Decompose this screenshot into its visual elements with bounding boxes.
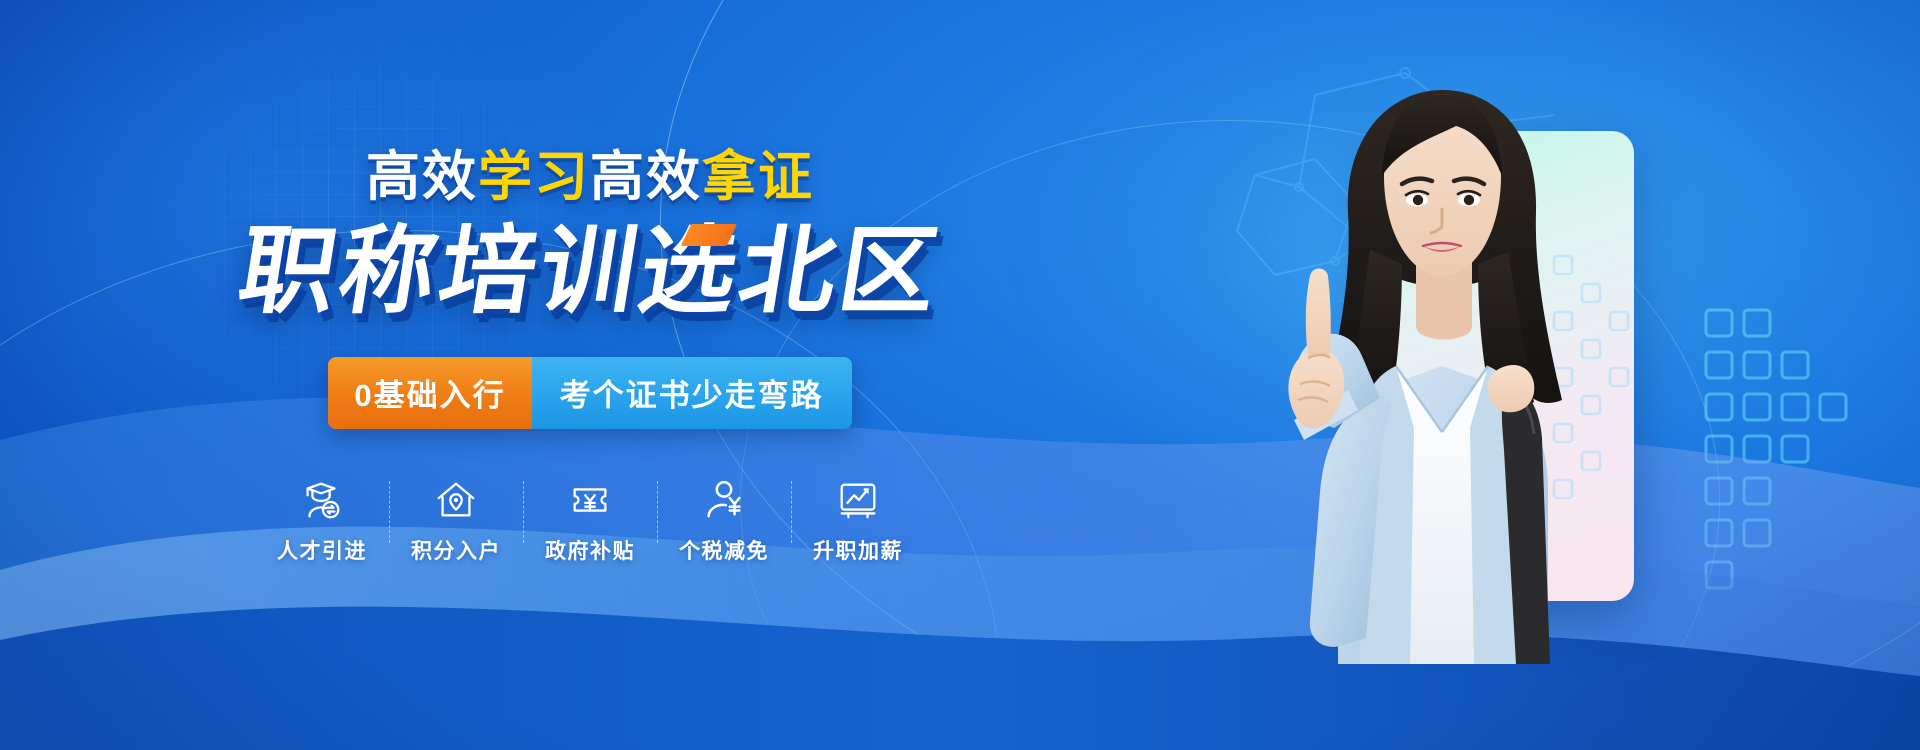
headline: 高效学习高效拿证 [366,150,814,204]
tagline-bar: 0基础入行 考个证书少走弯路 [328,357,851,429]
photo-composition [1160,0,1920,750]
headline-seg-3: 高效 [590,147,702,207]
feature-item-subsidy[interactable]: 政府补贴 [523,477,657,565]
tagline-badge: 0基础入行 [328,357,531,429]
headline-seg-1: 高效 [366,147,478,207]
headline-seg-4: 拿证 [702,147,814,207]
presenter-photo [1220,64,1660,664]
feature-label: 人才引进 [277,535,367,565]
feature-item-tax[interactable]: 个税减免 [657,477,791,565]
feature-item-residency[interactable]: 积分入户 [389,477,523,565]
feature-label: 积分入户 [411,535,501,565]
chart-board-icon [835,477,881,523]
headline-seg-2: 学习 [478,147,590,207]
feature-label: 个税减免 [679,535,769,565]
person-yuan-icon [701,477,747,523]
tagline-text: 考个证书少走弯路 [532,357,852,429]
feature-item-promotion[interactable]: 升职加薪 [791,477,925,565]
feature-item-talent[interactable]: 人才引进 [255,477,389,565]
main-title: 职称培训选北区 [232,222,948,323]
feature-label: 政府补贴 [545,535,635,565]
promo-banner: 高效学习高效拿证 职称培训选北区 0基础入行 考个证书少走弯路 人才引进 [0,0,1920,750]
banner-content: 高效学习高效拿证 职称培训选北区 0基础入行 考个证书少走弯路 人才引进 [0,0,1180,750]
house-pin-icon [433,477,479,523]
feature-label: 升职加薪 [813,535,903,565]
graduate-exchange-icon [299,477,345,523]
ticket-yuan-icon [567,477,613,523]
feature-list: 人才引进 积分入户 政府补贴 [255,477,925,565]
main-title-text: 职称培训选北区 [232,218,949,325]
